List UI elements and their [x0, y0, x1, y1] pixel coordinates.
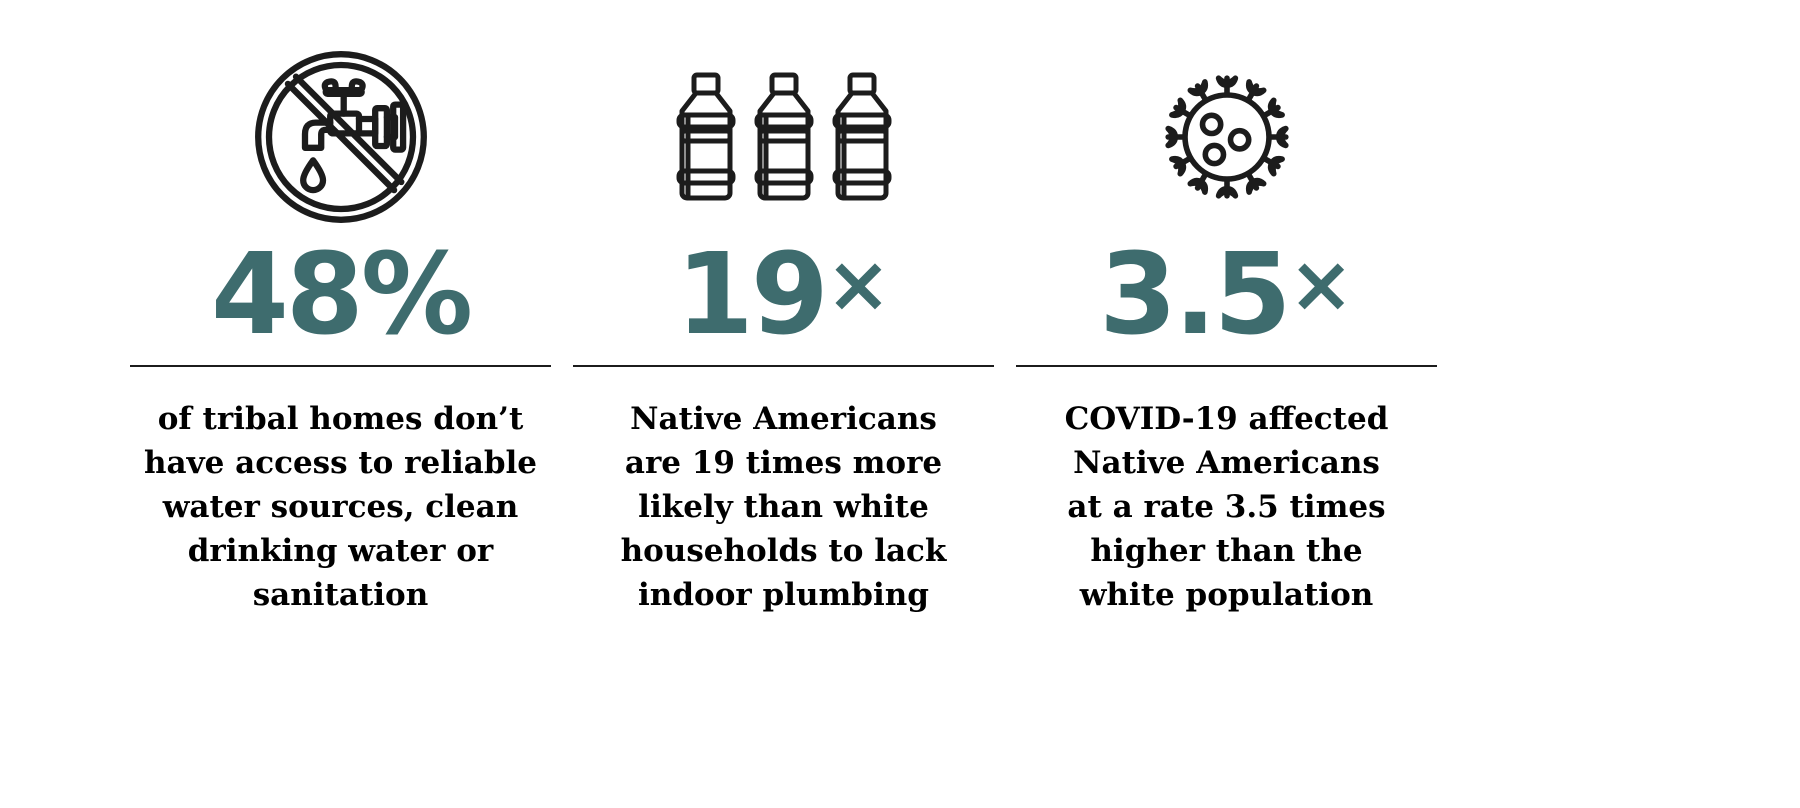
stat-column-indoor-plumbing: 19× Native Americans are 19 times more l… [573, 34, 994, 617]
column-divider [1016, 365, 1437, 367]
stat-unit: × [826, 246, 891, 324]
stat-number-water-access: 48% [211, 239, 470, 351]
stat-number-covid-impact: 3.5× [1099, 239, 1354, 351]
coronavirus-icon [1016, 34, 1437, 239]
caption-indoor-plumbing: Native Americans are 19 times more likel… [598, 397, 970, 617]
caption-covid-impact: COVID-19 affected Native Americans at a … [1041, 397, 1413, 617]
stat-unit: % [361, 239, 470, 351]
stat-value: 48 [211, 239, 361, 351]
infographic-root: 48% of tribal homes don’t have access to… [0, 0, 1800, 808]
stat-column-water-access: 48% of tribal homes don’t have access to… [130, 34, 551, 617]
stat-unit: × [1289, 246, 1354, 324]
water-bottles-icon [573, 34, 994, 239]
column-divider [130, 365, 551, 367]
no-running-water-icon [130, 34, 551, 239]
column-divider [573, 365, 994, 367]
stat-number-indoor-plumbing: 19× [676, 239, 891, 351]
stat-value: 3.5 [1099, 239, 1288, 351]
stat-column-covid-impact: 3.5× COVID-19 affected Native Americans … [1016, 34, 1437, 617]
caption-water-access: of tribal homes don’t have access to rel… [141, 397, 541, 617]
stat-value: 19 [676, 239, 826, 351]
